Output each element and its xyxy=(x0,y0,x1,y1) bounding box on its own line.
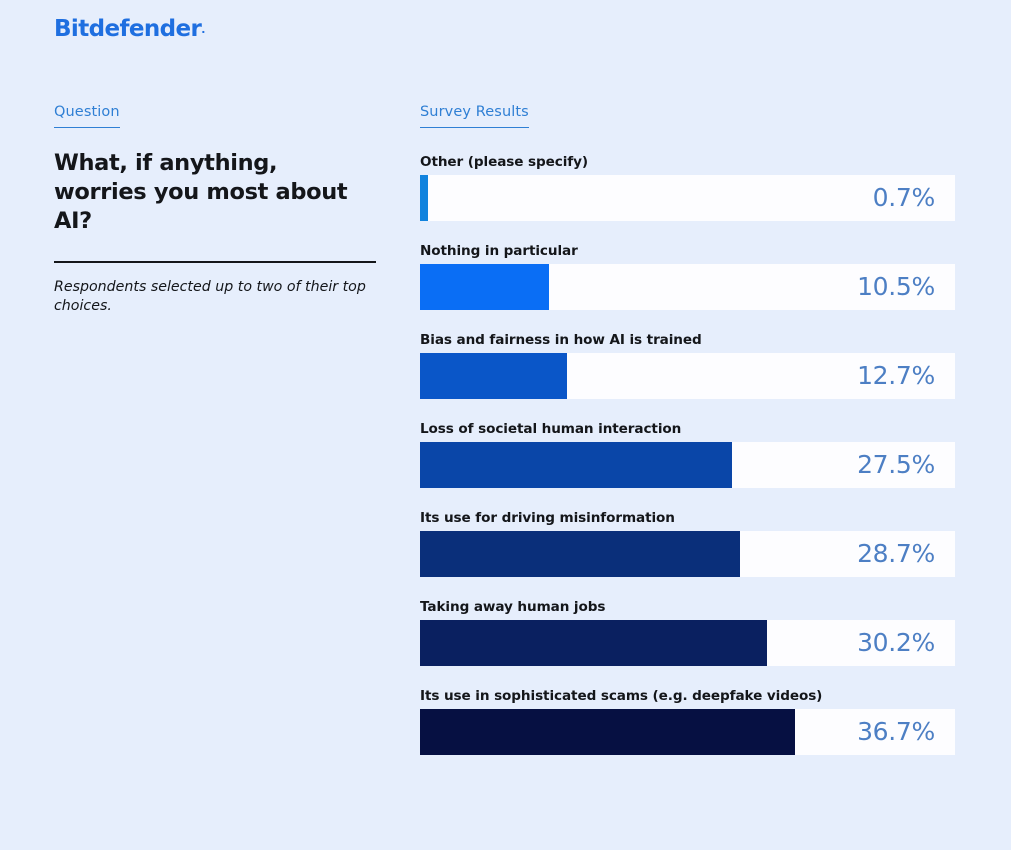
horizontal-divider xyxy=(54,261,376,263)
bar-track: 10.5% xyxy=(420,264,955,310)
bar-value-label: 27.5% xyxy=(857,442,935,488)
bar-row: Bias and fairness in how AI is trained12… xyxy=(420,332,955,399)
bar-fill xyxy=(420,264,549,310)
question-kicker: Question xyxy=(54,104,120,128)
bar-chart: Other (please specify)0.7%Nothing in par… xyxy=(420,154,955,755)
bar-row: Its use in sophisticated scams (e.g. dee… xyxy=(420,688,955,755)
bar-track: 28.7% xyxy=(420,531,955,577)
methodology-note: Respondents selected up to two of their … xyxy=(54,278,376,317)
bar-fill xyxy=(420,442,732,488)
bar-track: 30.2% xyxy=(420,620,955,666)
bar-track: 0.7% xyxy=(420,175,955,221)
bar-category-label: Taking away human jobs xyxy=(420,599,955,615)
bar-row: Loss of societal human interaction27.5% xyxy=(420,421,955,488)
results-kicker: Survey Results xyxy=(420,104,529,128)
bar-row: Other (please specify)0.7% xyxy=(420,154,955,221)
bar-value-label: 12.7% xyxy=(857,353,935,399)
bar-category-label: Its use in sophisticated scams (e.g. dee… xyxy=(420,688,955,704)
bar-fill xyxy=(420,620,767,666)
logo-text: Bitdefender xyxy=(54,16,201,42)
bitdefender-logo: Bitdefender. xyxy=(54,16,205,42)
page-title: What, if anything, worries you most abou… xyxy=(54,149,376,235)
bar-category-label: Its use for driving misinformation xyxy=(420,510,955,526)
bar-value-label: 28.7% xyxy=(857,531,935,577)
bar-value-label: 36.7% xyxy=(857,709,935,755)
bar-category-label: Nothing in particular xyxy=(420,243,955,259)
bar-value-label: 30.2% xyxy=(857,620,935,666)
bar-fill xyxy=(420,531,740,577)
bar-fill xyxy=(420,709,795,755)
bar-track: 36.7% xyxy=(420,709,955,755)
bar-category-label: Loss of societal human interaction xyxy=(420,421,955,437)
bar-fill xyxy=(420,175,428,221)
bar-row: Its use for driving misinformation28.7% xyxy=(420,510,955,577)
bar-value-label: 0.7% xyxy=(873,175,935,221)
results-panel: Survey Results Other (please specify)0.7… xyxy=(420,103,955,777)
bar-fill xyxy=(420,353,567,399)
bar-track: 12.7% xyxy=(420,353,955,399)
bar-category-label: Other (please specify) xyxy=(420,154,955,170)
bar-category-label: Bias and fairness in how AI is trained xyxy=(420,332,955,348)
bar-row: Nothing in particular10.5% xyxy=(420,243,955,310)
question-panel: Question What, if anything, worries you … xyxy=(54,103,376,317)
bar-track: 27.5% xyxy=(420,442,955,488)
logo-mark: . xyxy=(201,23,205,36)
bar-value-label: 10.5% xyxy=(857,264,935,310)
bar-row: Taking away human jobs30.2% xyxy=(420,599,955,666)
survey-infographic: Bitdefender. Question What, if anything,… xyxy=(0,0,1011,850)
